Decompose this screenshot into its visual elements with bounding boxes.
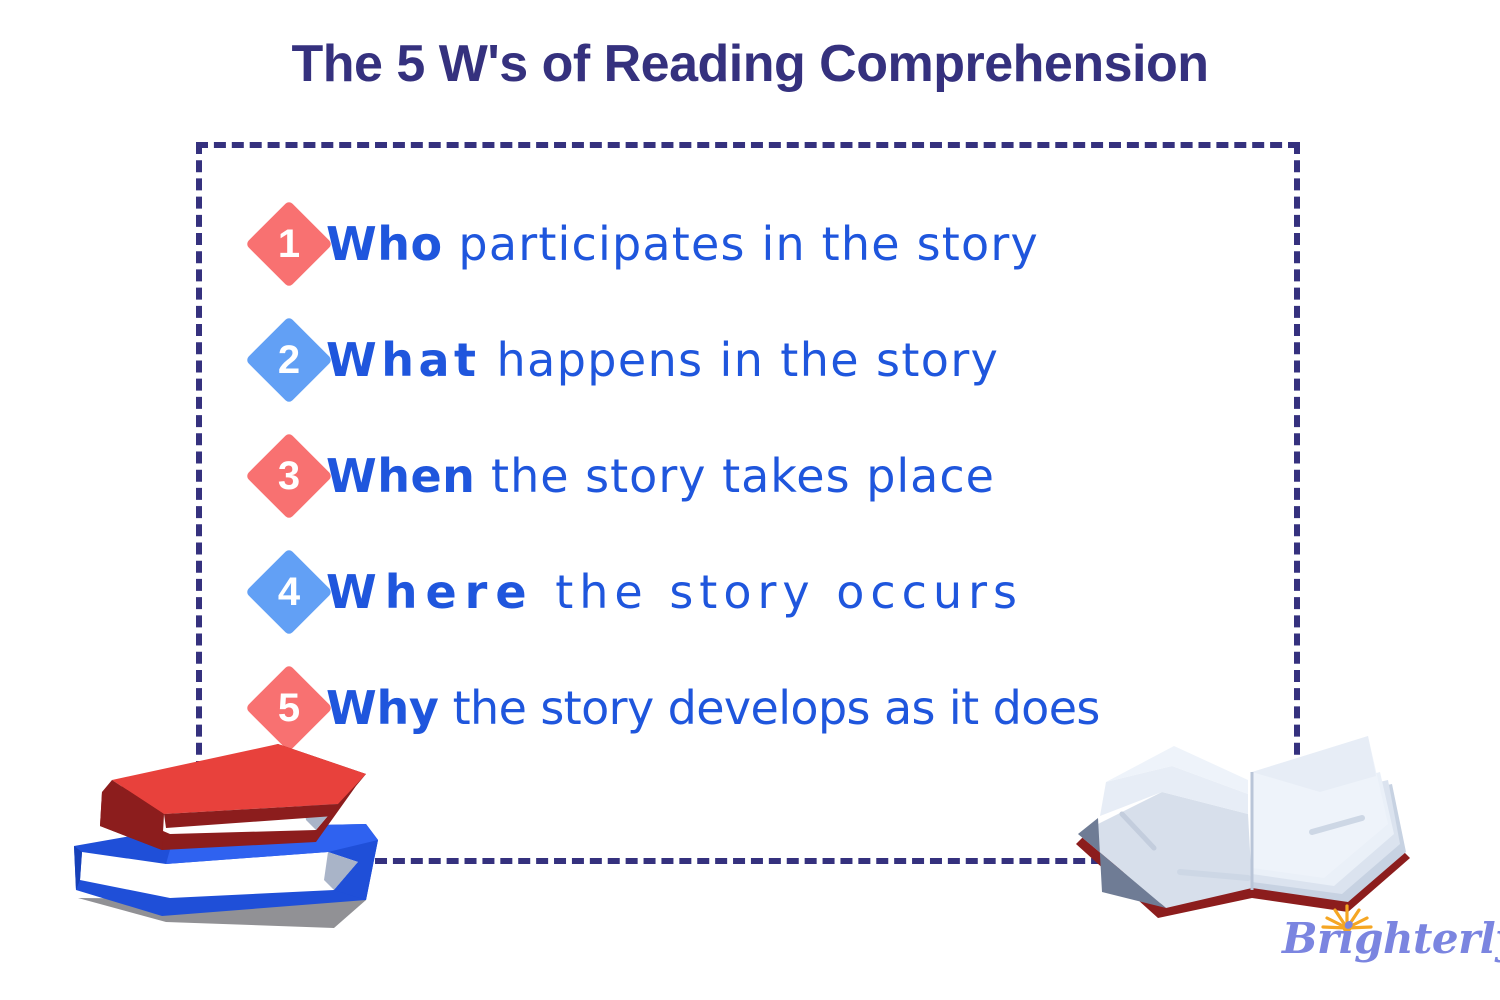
list-item-description: the story occurs: [535, 565, 1023, 619]
list-item: 2 What happens in the story: [258, 302, 1268, 418]
list-item-description: participates in the story: [443, 217, 1039, 271]
list-item: 4 Where the story occurs: [258, 534, 1268, 650]
list-item-keyword: What: [326, 333, 481, 387]
number-badge-1: 1: [245, 200, 333, 288]
number-badge-3: 3: [245, 432, 333, 520]
page-title: The 5 W's of Reading Comprehension: [0, 34, 1500, 94]
five-ws-list: 1 Who participates in the story 2 What h…: [258, 186, 1268, 766]
stacked-books-icon: [66, 722, 416, 942]
brighterly-logo: Brighterly: [1282, 902, 1482, 974]
badge-number-label: 2: [258, 329, 320, 391]
badge-number-label: 3: [258, 445, 320, 507]
list-item: 1 Who participates in the story: [258, 186, 1268, 302]
list-item-keyword: When: [326, 449, 475, 503]
number-badge-4: 4: [245, 548, 333, 636]
open-book-icon: [1062, 722, 1422, 922]
brand-wordmark: Brighterly: [1282, 918, 1482, 960]
list-item-description: happens in the story: [481, 333, 1000, 387]
list-item: 3 When the story takes place: [258, 418, 1268, 534]
open-book-illustration: [1062, 722, 1422, 922]
list-item-keyword: Where: [326, 565, 535, 619]
list-item-text: Who participates in the story: [326, 220, 1268, 268]
list-item-text: Where the story occurs: [326, 568, 1268, 616]
badge-number-label: 1: [258, 213, 320, 275]
stacked-books-illustration: [66, 722, 416, 942]
list-item-description: the story takes place: [475, 449, 995, 503]
list-item-text: What happens in the story: [326, 336, 1268, 384]
badge-number-label: 4: [258, 561, 320, 623]
list-item-description: the story develops as it does: [439, 681, 1100, 735]
list-item-keyword: Who: [326, 217, 443, 271]
list-item-text: When the story takes place: [326, 452, 1268, 500]
number-badge-2: 2: [245, 316, 333, 404]
